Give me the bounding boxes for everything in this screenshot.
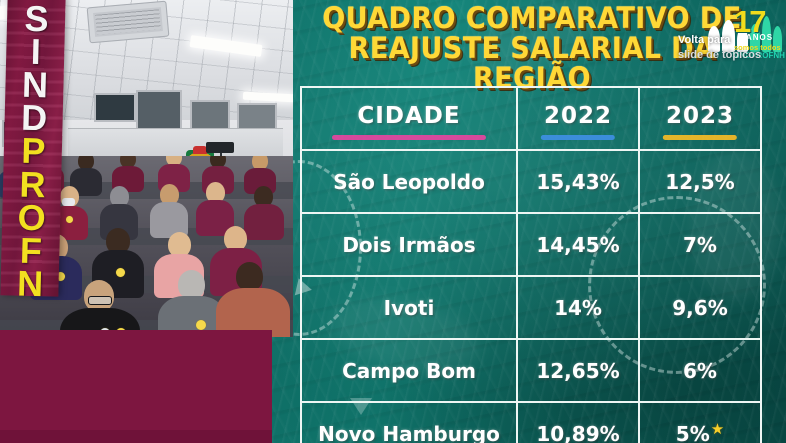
column-header-cidade: CIDADE	[301, 87, 517, 150]
column-header-underline	[663, 135, 737, 140]
back-to-topics-hint-line-2: slide de tópicos	[678, 48, 786, 63]
cell-city: Ivoti	[301, 276, 517, 339]
table-body: CIDADE20222023São Leopoldo15,43%12,5%Doi…	[301, 87, 761, 443]
column-header-2022: 2022	[517, 87, 639, 150]
column-header-label: 2022	[544, 103, 612, 129]
cell-city: São Leopoldo	[301, 150, 517, 213]
column-header-2023: 2023	[639, 87, 761, 150]
table-row: Campo Bom12,65%6%	[301, 339, 761, 402]
sindprofnh-banner-text: S I N D P R O F N	[0, 0, 65, 297]
slide-root: S I N D P R O F N QUADRO COMPARATIVO DE …	[0, 0, 786, 443]
cell-2022: 10,89%	[517, 402, 639, 443]
cell-2022: 15,43%	[517, 150, 639, 213]
cell-2022: 14%	[517, 276, 639, 339]
cell-2022: 12,65%	[517, 339, 639, 402]
column-header-underline	[541, 135, 615, 140]
photo-window	[94, 93, 136, 122]
cell-2023: 9,6%	[639, 276, 761, 339]
banner-letter-n2: N	[17, 267, 43, 297]
banner-letter-p: P	[21, 134, 45, 168]
column-header-label: CIDADE	[357, 103, 460, 129]
column-header-underline	[332, 135, 486, 140]
maroon-color-block-shadow	[0, 430, 272, 443]
table-row: São Leopoldo15,43%12,5%	[301, 150, 761, 213]
sindprofnh-banner: S I N D P R O F N	[0, 0, 65, 297]
column-header-label: 2023	[666, 103, 734, 129]
star-icon: ★	[711, 420, 724, 438]
back-to-topics-hint[interactable]: Volta para slide de tópicos	[678, 33, 786, 63]
cell-city: Campo Bom	[301, 339, 517, 402]
cell-city: Dois Irmãos	[301, 213, 517, 276]
table-header-row: CIDADE20222023	[301, 87, 761, 150]
back-to-topics-hint-line-1: Volta para	[678, 33, 786, 48]
table-row: Novo Hamburgo10,89%5%★	[301, 402, 761, 443]
cell-city: Novo Hamburgo	[301, 402, 517, 443]
cell-2023: 12,5%	[639, 150, 761, 213]
table-row: Ivoti14%9,6%	[301, 276, 761, 339]
table-row: Dois Irmãos14,45%7%	[301, 213, 761, 276]
maroon-color-block	[0, 330, 272, 440]
air-conditioner-unit	[87, 1, 170, 44]
cell-2023: 7%	[639, 213, 761, 276]
cell-2022: 14,45%	[517, 213, 639, 276]
cell-2023: 6%	[639, 339, 761, 402]
cell-2023: 5%★	[639, 402, 761, 443]
salary-comparison-table: CIDADE20222023São Leopoldo15,43%12,5%Doi…	[300, 86, 762, 443]
